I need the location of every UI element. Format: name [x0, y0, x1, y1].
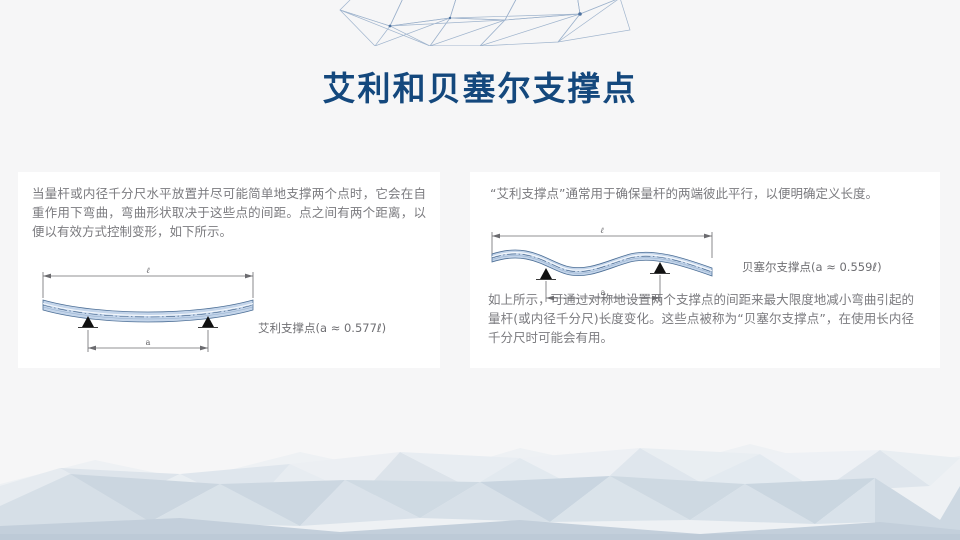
left-paragraph: 当量杆或内径千分尺水平放置并尽可能简单地支撑两个点时，它会在自重作用下弯曲，弯曲… [32, 184, 426, 241]
svg-text:ℓ: ℓ [146, 266, 150, 275]
bessel-caption: 贝塞尔支撑点(a ≈ 0.559ℓ) [742, 259, 882, 275]
airy-caption-text: 艾利支撑点(a ≈ 0.577 [258, 321, 377, 335]
slide-canvas: 艾利和贝塞尔支撑点 当量杆或内径千分尺水平放置并尽可能简单地支撑两个点时，它会在… [0, 0, 960, 540]
svg-text:a: a [601, 288, 606, 297]
airy-caption: 艾利支撑点(a ≈ 0.577ℓ) [258, 320, 386, 336]
bessel-caption-text: 贝塞尔支撑点(a ≈ 0.559 [742, 260, 872, 274]
svg-text:ℓ: ℓ [600, 226, 604, 235]
svg-text:a: a [146, 338, 151, 347]
top-polygon-mesh-decoration [330, 0, 650, 46]
airy-support-diagram: ℓ a [40, 264, 256, 356]
bessel-caption-tail: ) [877, 260, 882, 274]
bessel-support-diagram: ℓ a [488, 224, 716, 308]
page-title: 艾利和贝塞尔支撑点 [0, 62, 960, 110]
airy-caption-tail: ) [382, 321, 387, 335]
bottom-mountain-decoration [0, 422, 960, 540]
right-paragraph-top: “艾利支撑点”通常用于确保量杆的两端彼此平行，以便明确定义长度。 [490, 184, 910, 203]
